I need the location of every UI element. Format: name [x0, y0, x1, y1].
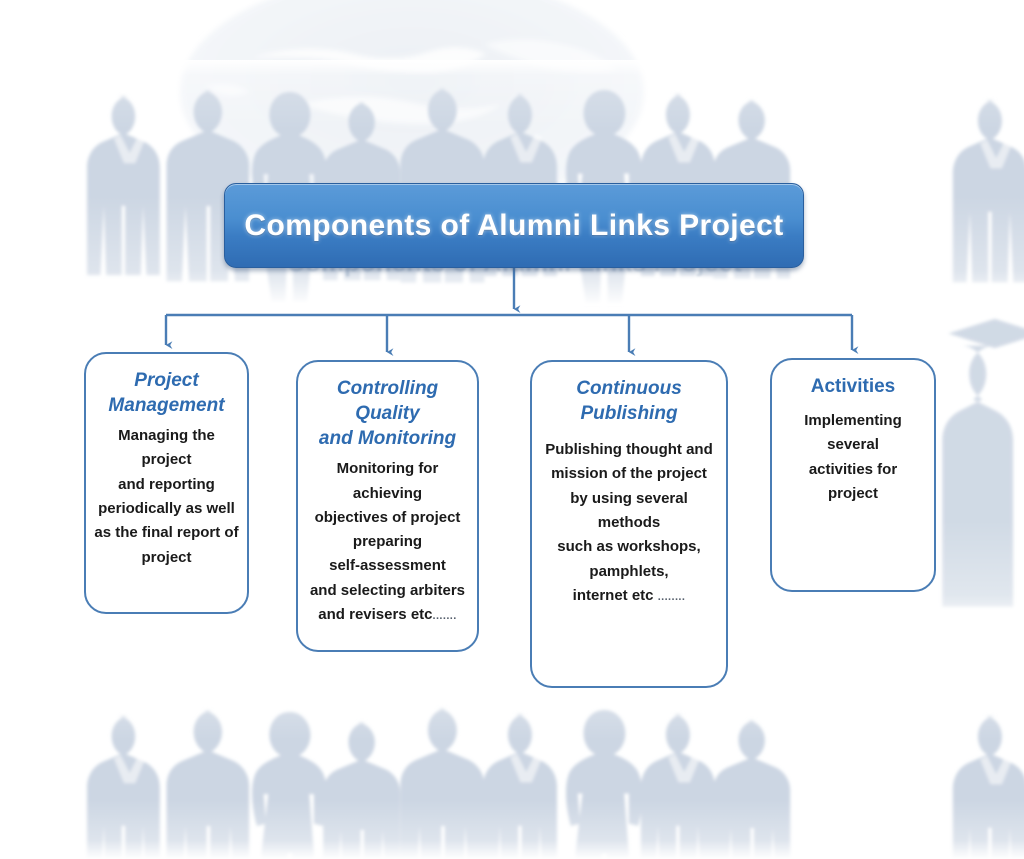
component-body-ellipsis: ....... [433, 610, 457, 622]
component-body-line: objectives of project [315, 509, 461, 526]
component-heading-line: Activities [811, 376, 895, 397]
component-body-line: project [828, 485, 878, 502]
component-heading: Project Management [94, 368, 239, 418]
component-body: Implementing several activities for proj… [780, 409, 926, 506]
component-heading-line: Project [134, 370, 198, 391]
component-body-line: and revisers etc [318, 606, 432, 623]
component-body-line: Implementing [804, 412, 902, 429]
component-body-line: activities for [809, 461, 897, 478]
component-body-line: achieving [353, 485, 422, 502]
component-heading-line: Controlling Quality [337, 378, 438, 424]
component-body-line: Managing the project [118, 427, 215, 468]
page-title: Components of Alumni Links Project [244, 209, 783, 243]
component-body-ellipsis: ........ [658, 591, 686, 603]
component-body-line: and reporting [118, 476, 215, 493]
component-body-line: mission of the project [551, 465, 707, 482]
component-body-line: Monitoring for [337, 460, 439, 477]
slide-canvas: Components of Alumni Links Project Compo… [0, 0, 1024, 859]
component-body-line: project [141, 549, 191, 566]
component-body: Monitoring for achieving objectives of p… [306, 457, 469, 627]
component-heading-line: and Monitoring [319, 428, 456, 449]
component-box-project-management[interactable]: Project Management Managing the project … [84, 352, 249, 614]
component-body-line: periodically as well [98, 500, 235, 517]
component-heading: Activities [780, 374, 926, 399]
component-body-line: pamphlets, [589, 563, 668, 580]
component-body: Publishing thought and mission of the pr… [540, 438, 718, 608]
component-box-continuous-publishing[interactable]: Continuous Publishing Publishing thought… [530, 360, 728, 688]
component-heading: Controlling Quality and Monitoring [306, 376, 469, 451]
component-body-line: self-assessment [329, 557, 446, 574]
component-body-line: internet etc [573, 587, 654, 604]
component-body-line: such as workshops, [557, 538, 700, 555]
component-body-line: by using several methods [570, 490, 688, 531]
component-body-line: preparing [353, 533, 422, 550]
component-box-controlling-quality-and-monitoring[interactable]: Controlling Quality and Monitoring Monit… [296, 360, 479, 652]
component-body-line: and selecting arbiters [310, 582, 465, 599]
component-box-activities[interactable]: Activities Implementing several activiti… [770, 358, 936, 592]
component-heading: Continuous Publishing [540, 376, 718, 426]
component-body-line: as the final report of [94, 524, 238, 541]
component-heading-line: Publishing [580, 403, 677, 424]
component-heading-line: Continuous [576, 378, 682, 399]
component-body-line: several [827, 436, 879, 453]
component-heading-line: Management [108, 395, 224, 416]
component-body-line: Publishing thought and [545, 441, 712, 458]
component-body: Managing the project and reporting perio… [94, 424, 239, 570]
slide-title-banner: Components of Alumni Links Project [224, 183, 804, 268]
